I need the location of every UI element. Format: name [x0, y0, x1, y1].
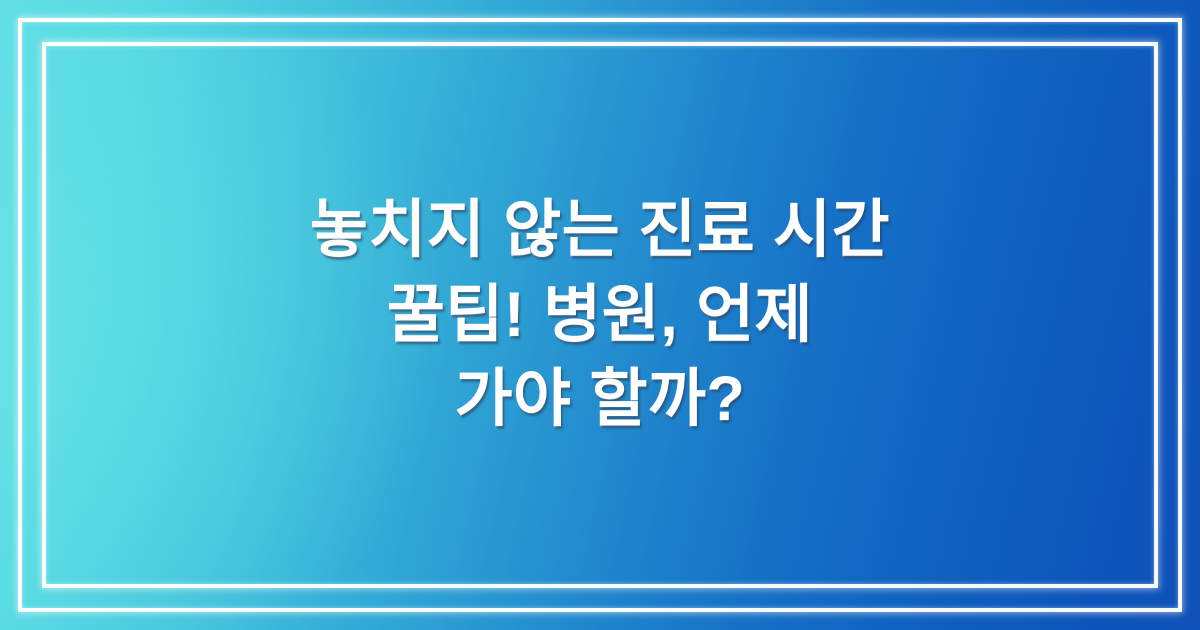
headline-block: 놓치지 않는 진료 시간 꿀팁! 병원, 언제 가야 할까?: [0, 0, 1200, 630]
headline-line-1: 놓치지 않는 진료 시간: [310, 188, 890, 272]
headline-line-2: 꿀팁! 병원, 언제: [387, 273, 813, 357]
thumbnail-card: 놓치지 않는 진료 시간 꿀팁! 병원, 언제 가야 할까?: [0, 0, 1200, 630]
headline-line-3: 가야 할까?: [455, 357, 746, 441]
